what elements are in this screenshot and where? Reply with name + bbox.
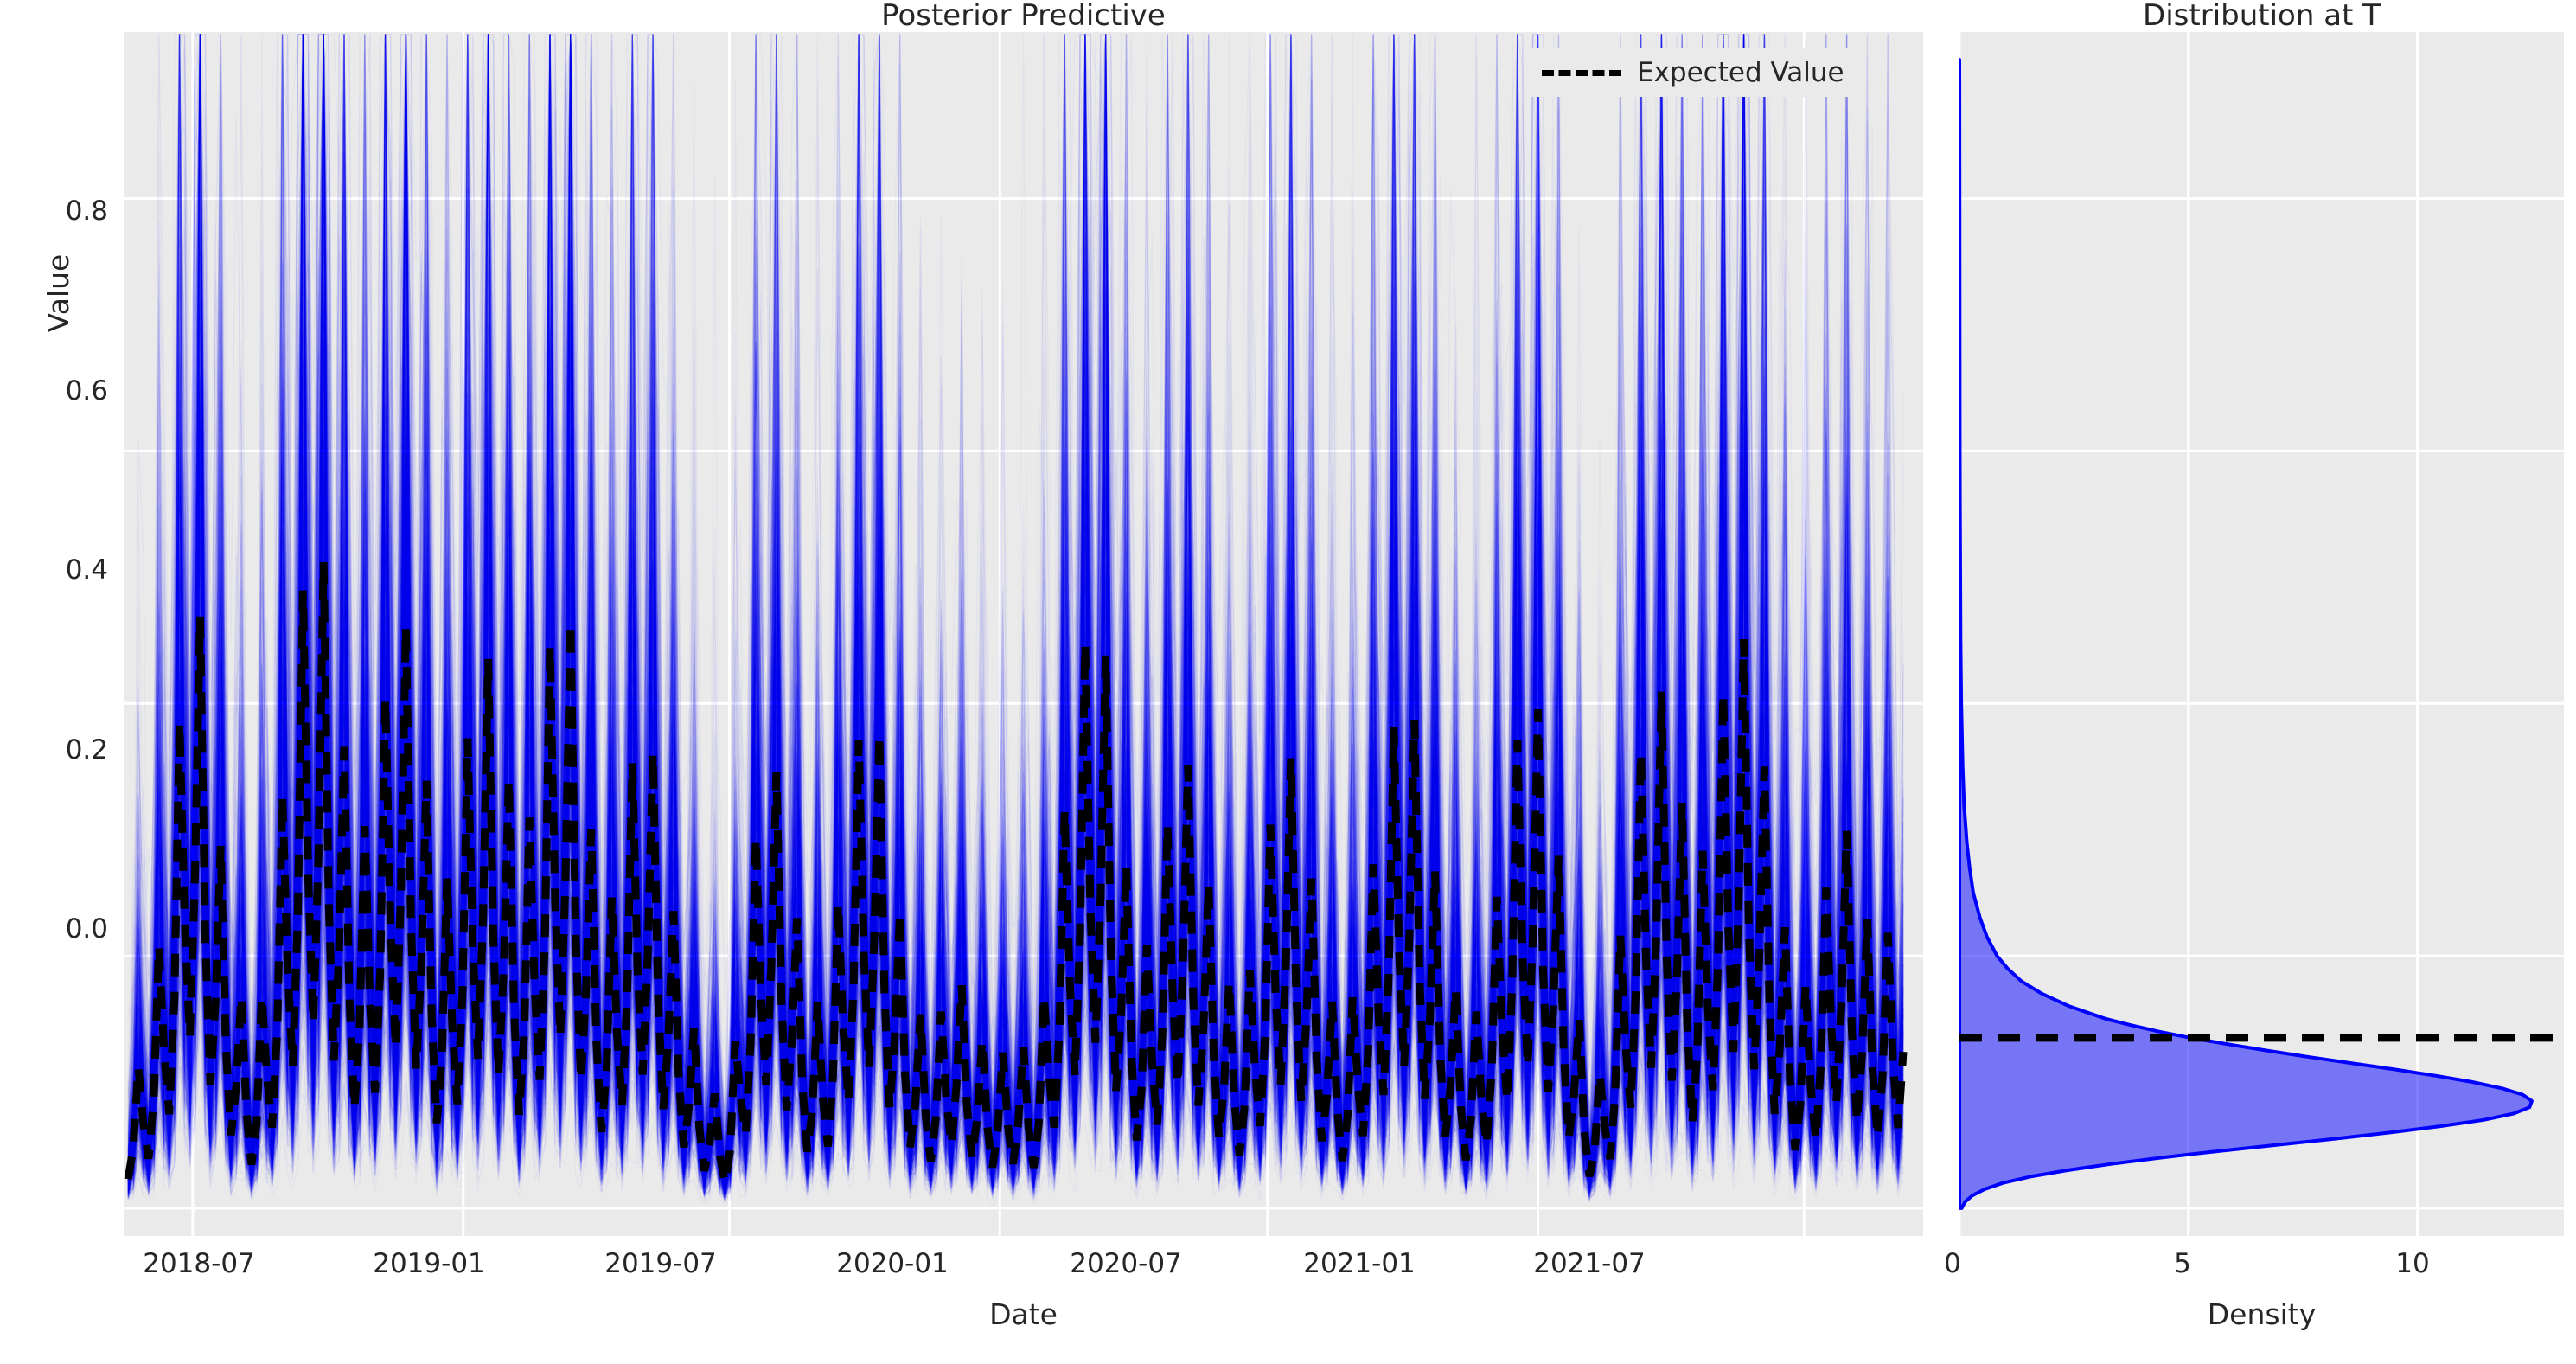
x-tick-2020-07: 2020-07 [1022, 1248, 1230, 1279]
right-x-axis-label: Density [1959, 1297, 2564, 1331]
density-tick-5: 5 [2113, 1248, 2252, 1279]
x-tick-2021-07: 2021-07 [1486, 1248, 1693, 1279]
legend: Expected Value [1525, 48, 1863, 97]
left-y-axis-label: Value [42, 0, 75, 895]
x-tick-2019-01: 2019-01 [325, 1248, 533, 1279]
y-tick-0.0: 0.0 [0, 913, 108, 945]
right-panel-title: Distribution at T [1959, 0, 2564, 32]
x-tick-2018-07: 2018-07 [95, 1248, 303, 1279]
x-tick-2021-01: 2021-01 [1256, 1248, 1463, 1279]
x-tick-2019-07: 2019-07 [557, 1248, 764, 1279]
distribution-at-t-plot [1959, 32, 2564, 1236]
posterior-predictive-axes [124, 32, 1923, 1236]
expected-value-line-swatch [1542, 70, 1621, 76]
x-tick-2020-01: 2020-01 [789, 1248, 996, 1279]
legend-label-expected-value: Expected Value [1637, 57, 1844, 88]
density-tick-0: 0 [1883, 1248, 2022, 1279]
posterior-predictive-plot [124, 32, 1923, 1236]
left-x-axis-label: Date [124, 1297, 1923, 1331]
left-panel-title: Posterior Predictive [124, 0, 1923, 32]
density-tick-10: 10 [2343, 1248, 2482, 1279]
distribution-at-t-axes [1959, 32, 2564, 1236]
figure-canvas: Posterior Predictive 0.8 0.6 0.4 0.2 0.0… [0, 0, 2576, 1364]
